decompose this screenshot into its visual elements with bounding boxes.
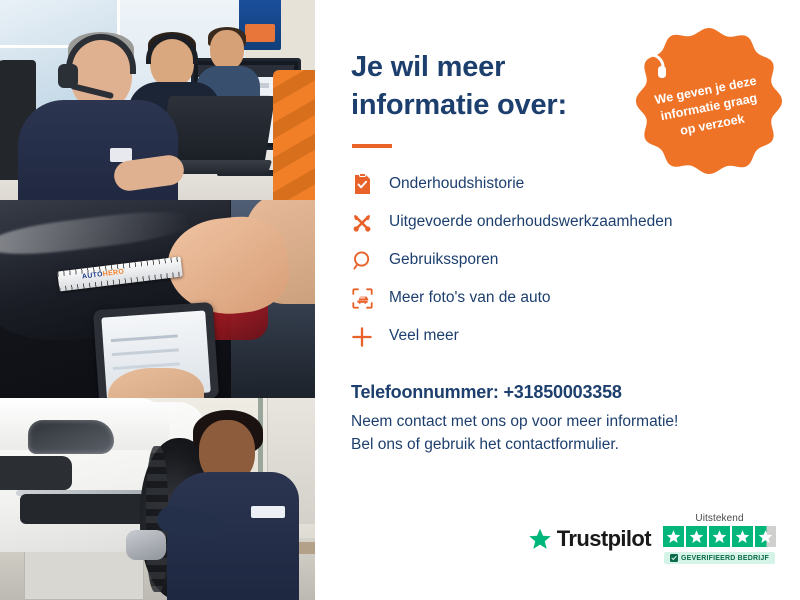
- checklist-document-icon: [351, 174, 373, 196]
- title-divider: [352, 144, 392, 148]
- star-half: [755, 526, 776, 547]
- star-full: [663, 526, 684, 547]
- trustpilot-widget[interactable]: Trustpilot Uitstekend: [528, 513, 776, 564]
- contact-subtext-line-1: Neem contact met ons op voor meer inform…: [351, 413, 678, 430]
- list-item: Gebruikssporen: [351, 242, 766, 280]
- autohero-ruler-inspection-photo: AUTOHERO: [0, 200, 315, 398]
- list-item: Veel meer: [351, 318, 766, 356]
- contact-subtext-line-2: Bel ons of gebruik het contactformulier.: [351, 436, 619, 453]
- feature-label: Gebruikssporen: [389, 251, 498, 270]
- verified-check-icon: [670, 554, 678, 562]
- trustpilot-rating: Uitstekend: [663, 513, 776, 564]
- callout-badge: We geven je deze informatie graag op ver…: [634, 26, 784, 176]
- car-photo-scan-icon: [351, 288, 373, 310]
- feature-label: Onderhoudshistorie: [389, 175, 524, 194]
- tools-wrench-screwdriver-icon: [351, 212, 373, 234]
- content-panel: Je wil meer informatie over: Onderhoudsh…: [315, 0, 800, 600]
- feature-label: Veel meer: [389, 327, 459, 346]
- star-rating: [663, 526, 776, 547]
- headline-line-1: Je wil meer: [351, 51, 505, 83]
- trustpilot-wordmark: Trustpilot: [557, 526, 651, 552]
- tool-cabinet: [24, 550, 144, 600]
- verified-business-badge: GEVERIFIEERD BEDRIJF: [664, 552, 775, 564]
- feature-label: Uitgevoerde onderhoudswerkzaamheden: [389, 213, 673, 232]
- star-full: [709, 526, 730, 547]
- grille: [0, 456, 72, 490]
- feature-label: Meer foto's van de auto: [389, 289, 551, 308]
- feature-list: Onderhoudshistorie Uitgevoerd: [351, 166, 766, 356]
- promo-panel: AUTOHERO: [0, 0, 800, 600]
- verified-label: GEVERIFIEERD BEDRIJF: [681, 555, 769, 562]
- foreground-agent: [18, 30, 178, 200]
- headline-line-2: informatie over:: [351, 89, 567, 121]
- list-item: Meer foto's van de auto: [351, 280, 766, 318]
- technician: [167, 410, 299, 600]
- plus-icon: [351, 326, 373, 348]
- trustpilot-logo: Trustpilot: [528, 526, 651, 552]
- list-item: Uitgevoerde onderhoudswerkzaamheden: [351, 204, 766, 242]
- trustpilot-star-icon: [528, 527, 552, 551]
- star-full: [732, 526, 753, 547]
- orange-props: [273, 70, 315, 200]
- headlight: [28, 420, 114, 454]
- phone-number[interactable]: Telefoonnummer: +31850003358: [351, 382, 766, 403]
- work-glove: [126, 530, 166, 560]
- star-full: [686, 526, 707, 547]
- contact-subtext: Neem contact met ons op voor meer inform…: [351, 410, 766, 457]
- photo-column: AUTOHERO: [0, 0, 315, 600]
- call-center-agents-photo: [0, 0, 315, 200]
- page-title: Je wil meer informatie over:: [351, 48, 631, 125]
- workshop-wheel-inspection-photo: [0, 398, 315, 600]
- magnifier-icon: [351, 250, 373, 272]
- contact-block: Telefoonnummer: +31850003358 Neem contac…: [351, 382, 766, 457]
- rating-label: Uitstekend: [695, 513, 743, 524]
